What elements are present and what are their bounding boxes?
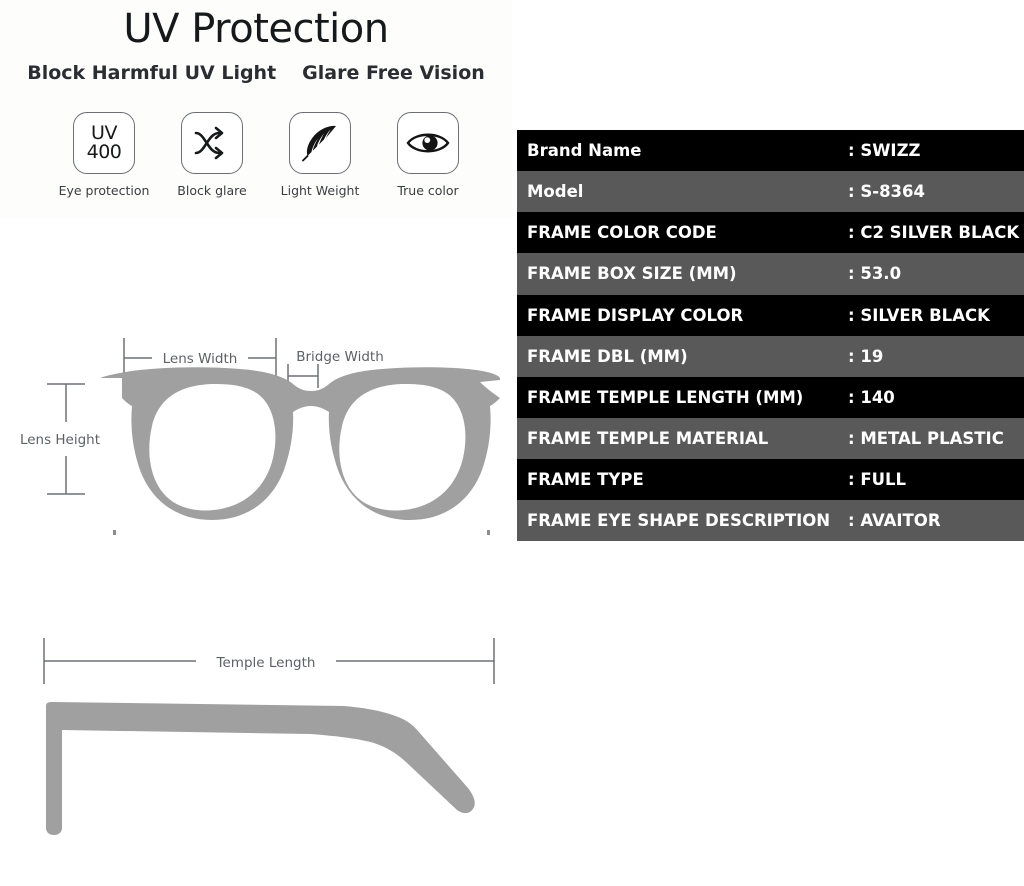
- feature-caption-true-color: True color: [397, 183, 458, 198]
- product-infographic-panel: UV Protection Block Harmful UV Light Gla…: [0, 0, 512, 886]
- spec-key: Model: [517, 171, 848, 212]
- table-row: FRAME TEMPLE MATERIAL : METAL PLASTIC: [517, 418, 1024, 459]
- spec-value: : FULL: [848, 459, 1024, 500]
- spec-value: : AVAITOR: [848, 500, 1024, 541]
- glasses-frame-silhouette: [100, 367, 500, 535]
- spec-value: : S-8364: [848, 171, 1024, 212]
- uv400-icon-line2: 400: [87, 143, 122, 162]
- uv-protection-title: UV Protection: [0, 6, 512, 52]
- feature-icon-row: UV 400 Eye protection: [56, 112, 476, 198]
- shuffle-arrows-icon: [181, 112, 243, 174]
- feather-glyph: [298, 121, 342, 165]
- uv-protection-block: UV Protection Block Harmful UV Light Gla…: [0, 0, 512, 218]
- temple-length-label: Temple Length: [216, 655, 316, 671]
- feature-caption-light-weight: Light Weight: [281, 183, 360, 198]
- spec-value: : 19: [848, 336, 1024, 377]
- table-row: Model : S-8364: [517, 171, 1024, 212]
- spec-value: : SILVER BLACK: [848, 295, 1024, 336]
- uv-subtitle-glare-free: Glare Free Vision: [302, 62, 485, 84]
- table-row: FRAME BOX SIZE (MM) : 53.0: [517, 253, 1024, 294]
- spec-value: : 53.0: [848, 253, 1024, 294]
- feature-caption-eye-protection: Eye protection: [59, 183, 150, 198]
- spec-key: FRAME COLOR CODE: [517, 212, 848, 253]
- eye-glyph: [405, 128, 451, 158]
- spec-value: : METAL PLASTIC: [848, 418, 1024, 459]
- spec-key: FRAME TYPE: [517, 459, 848, 500]
- uv400-icon: UV 400: [73, 112, 135, 174]
- lens-height-label: Lens Height: [20, 432, 100, 448]
- uv-subtitle-row: Block Harmful UV Light Glare Free Vision: [0, 62, 512, 84]
- eye-icon: [397, 112, 459, 174]
- table-row: FRAME EYE SHAPE DESCRIPTION : AVAITOR: [517, 500, 1024, 541]
- shuffle-arrows-glyph: [191, 124, 233, 162]
- feature-true-color: True color: [380, 112, 476, 198]
- spec-value: : SWIZZ: [848, 130, 1024, 171]
- table-row: FRAME DISPLAY COLOR : SILVER BLACK: [517, 295, 1024, 336]
- product-specification-table: Brand Name : SWIZZ Model : S-8364 FRAME …: [517, 130, 1024, 541]
- spec-key: FRAME DISPLAY COLOR: [517, 295, 848, 336]
- table-row: FRAME DBL (MM) : 19: [517, 336, 1024, 377]
- feature-caption-block-glare: Block glare: [177, 183, 246, 198]
- spec-value: : 140: [848, 377, 1024, 418]
- spec-key: FRAME TEMPLE MATERIAL: [517, 418, 848, 459]
- spec-key: FRAME EYE SHAPE DESCRIPTION: [517, 500, 848, 541]
- bridge-width-label: Bridge Width: [296, 349, 384, 365]
- temple-arm-silhouette: [46, 702, 475, 835]
- table-row: FRAME TYPE : FULL: [517, 459, 1024, 500]
- spec-key: Brand Name: [517, 130, 848, 171]
- feature-eye-protection: UV 400 Eye protection: [56, 112, 152, 198]
- spec-key: FRAME TEMPLE LENGTH (MM): [517, 377, 848, 418]
- spec-key: FRAME DBL (MM): [517, 336, 848, 377]
- table-row: FRAME TEMPLE LENGTH (MM) : 140: [517, 377, 1024, 418]
- lens-width-label: Lens Width: [163, 351, 238, 367]
- spec-table-body: Brand Name : SWIZZ Model : S-8364 FRAME …: [517, 130, 1024, 541]
- feature-light-weight: Light Weight: [272, 112, 368, 198]
- table-row: FRAME COLOR CODE : C2 SILVER BLACK: [517, 212, 1024, 253]
- spec-key: FRAME BOX SIZE (MM): [517, 253, 848, 294]
- feature-block-glare: Block glare: [164, 112, 260, 198]
- table-row: Brand Name : SWIZZ: [517, 130, 1024, 171]
- temple-length-measurement-diagram: Temple Length: [0, 620, 512, 870]
- uv-subtitle-block-harmful: Block Harmful UV Light: [27, 62, 276, 84]
- glasses-front-measurement-diagram: Lens Width Bridge Width Lens Height: [0, 322, 512, 562]
- feather-icon: [289, 112, 351, 174]
- spec-value: : C2 SILVER BLACK: [848, 212, 1024, 253]
